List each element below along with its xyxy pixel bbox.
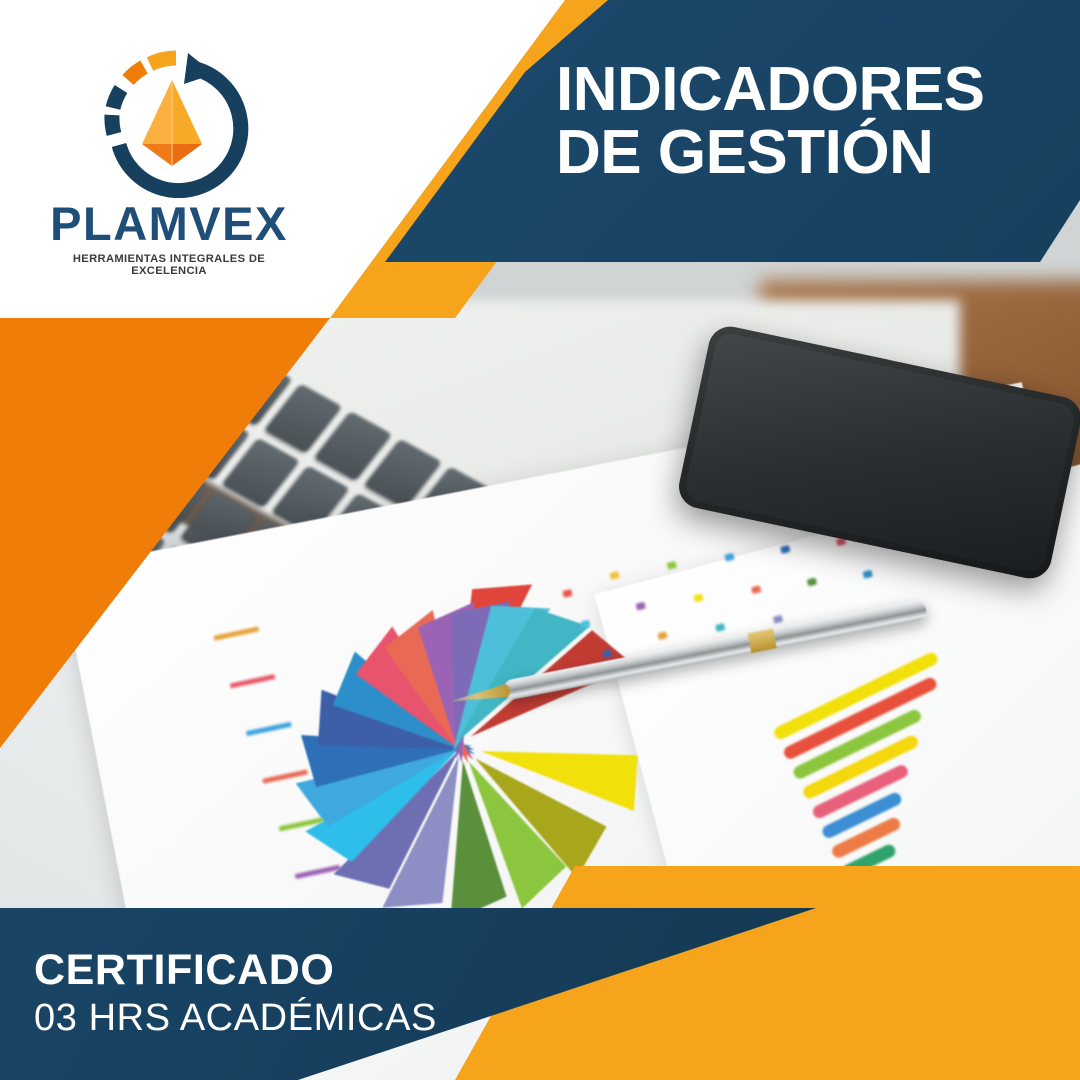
page-title-line2: DE GESTIÓN (556, 121, 1066, 184)
academic-hours-label: 03 HRS ACADÉMICAS (34, 997, 654, 1041)
logo-wordmark: PLAMVEX (44, 200, 294, 247)
page-title: INDICADORES DE GESTIÓN (556, 58, 1066, 184)
pyramid-circular-arrow-icon (92, 48, 252, 198)
page-title-line1: INDICADORES (556, 55, 985, 124)
brand-logo: PLAMVEX HERRAMIENTAS INTEGRALES DE EXCEL… (44, 48, 294, 268)
logo-tagline: HERRAMIENTAS INTEGRALES DE EXCELENCIA (44, 253, 294, 277)
promotional-poster: PLAMVEX HERRAMIENTAS INTEGRALES DE EXCEL… (0, 0, 1080, 1080)
certificate-info: CERTIFICADO 03 HRS ACADÉMICAS (34, 948, 654, 1041)
certificate-label: CERTIFICADO (34, 948, 654, 993)
